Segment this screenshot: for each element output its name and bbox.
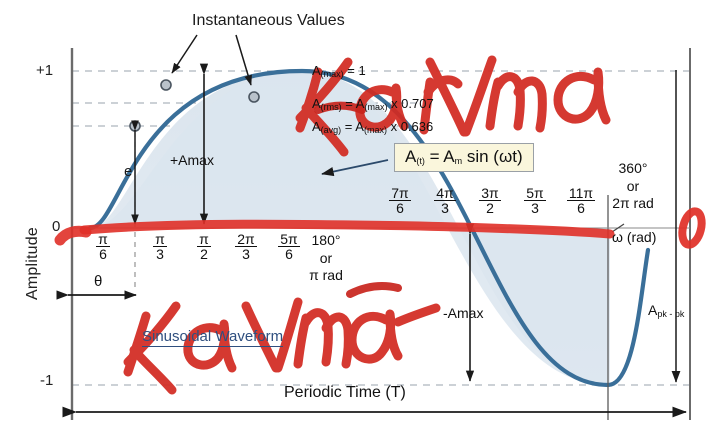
xtick-pi-3-num: π — [153, 232, 167, 247]
mid-or: or — [320, 250, 332, 266]
xtick-5pi-6-num: 5π — [278, 232, 299, 247]
theta-label: θ — [94, 273, 102, 290]
end-or: or — [627, 178, 639, 194]
xtick-5pi-3-num: 5π — [524, 186, 545, 201]
sinusoidal-waveform-figure: Amplitude +1 0 -1 Instantaneous Values +… — [0, 0, 720, 445]
formula-box: A(t) = Am sin (ωt) — [394, 143, 534, 172]
eq3-rhs: = A — [341, 119, 364, 134]
xtick-360-deg: 360° or 2π rad — [602, 160, 664, 213]
eq2-tail: x 0.707 — [387, 96, 433, 111]
xtick-7pi-6-den: 6 — [389, 201, 410, 215]
xtick-3pi-2: 3π2 — [473, 186, 507, 215]
mid-rad: π rad — [309, 267, 343, 283]
eq3-sub2: (max) — [364, 125, 387, 135]
xtick-11pi-6-num: 11π — [567, 186, 595, 201]
equation-aavg: A(avg) = A(max) x 0.636 — [312, 119, 433, 135]
eq3-sub: (avg) — [321, 125, 342, 135]
eq2-sub: (rms) — [321, 102, 342, 112]
mid-deg: 180° — [312, 232, 341, 248]
formula-sub1: (t) — [416, 156, 425, 166]
y-tick-minus-one: -1 — [40, 372, 53, 389]
xtick-pi-2-den: 2 — [197, 247, 211, 261]
formula-sub2: m — [455, 156, 463, 166]
instantaneous-values-title: Instantaneous Values — [192, 12, 345, 30]
handwriting-right-mark — [679, 209, 705, 246]
eq2-lhs: A — [312, 96, 321, 111]
eq2-sub2: (max) — [364, 102, 387, 112]
xtick-11pi-6: 11π6 — [561, 186, 601, 215]
eq1-lhs: A — [312, 63, 321, 78]
xtick-2pi-3-num: 2π — [235, 232, 256, 247]
end-rad: 2π rad — [612, 195, 654, 211]
equation-arms: A(rms) = A(max) x 0.707 — [312, 96, 434, 112]
xtick-180-deg: 180° or π rad — [300, 232, 352, 285]
e-label: e — [124, 163, 132, 180]
xtick-7pi-6-num: 7π — [389, 186, 410, 201]
equation-amax: A(max) = 1 — [312, 63, 366, 79]
xtick-7pi-6: 7π6 — [383, 186, 417, 215]
xtick-2pi-3-den: 3 — [235, 247, 256, 261]
y-axis-label: Amplitude — [24, 227, 42, 300]
x-axis-label: ω (rad) — [612, 229, 656, 245]
end-deg: 360° — [619, 160, 648, 176]
eq1-sub: (max) — [321, 69, 344, 79]
apk-pk-label: Apk - pk — [648, 302, 684, 319]
eq2-rhs: = A — [342, 96, 365, 111]
apk-sub: pk - pk — [657, 309, 684, 319]
formula-main: A — [405, 147, 416, 166]
xtick-5pi-6-den: 6 — [278, 247, 299, 261]
apk-main: A — [648, 302, 657, 318]
eq3-tail: x 0.636 — [387, 119, 433, 134]
xtick-2pi-3: 2π3 — [229, 232, 263, 261]
xtick-5pi-3-den: 3 — [524, 201, 545, 215]
xtick-pi-2-num: π — [197, 232, 211, 247]
xtick-4pi-3: 4π3 — [428, 186, 462, 215]
eq3-lhs: A — [312, 119, 321, 134]
xtick-pi-3-den: 3 — [153, 247, 167, 261]
xtick-3pi-2-num: 3π — [479, 186, 500, 201]
xtick-pi-6-den: 6 — [96, 247, 110, 261]
handwriting-dash-mid — [350, 286, 398, 294]
xtick-pi-3: π3 — [146, 232, 174, 261]
xtick-pi-2: π2 — [190, 232, 218, 261]
xtick-4pi-3-den: 3 — [434, 201, 455, 215]
waveform-caption: Sinusoidal Waveform — [142, 328, 283, 347]
y-tick-zero: 0 — [52, 218, 60, 235]
periodic-time-label: Periodic Time (T) — [284, 384, 406, 402]
y-tick-plus-one: +1 — [36, 62, 53, 79]
xtick-5pi-3: 5π3 — [518, 186, 552, 215]
xtick-3pi-2-den: 2 — [479, 201, 500, 215]
formula-mid: = A — [425, 147, 455, 166]
xtick-11pi-6-den: 6 — [567, 201, 595, 215]
xtick-4pi-3-num: 4π — [434, 186, 455, 201]
xtick-pi-6-num: π — [96, 232, 110, 247]
xtick-pi-6: π6 — [89, 232, 117, 261]
formula-end: sin (ωt) — [462, 147, 523, 166]
plus-amax-label: +Amax — [170, 152, 214, 168]
eq1-rhs: = 1 — [344, 63, 366, 78]
minus-amax-label: -Amax — [443, 305, 483, 321]
